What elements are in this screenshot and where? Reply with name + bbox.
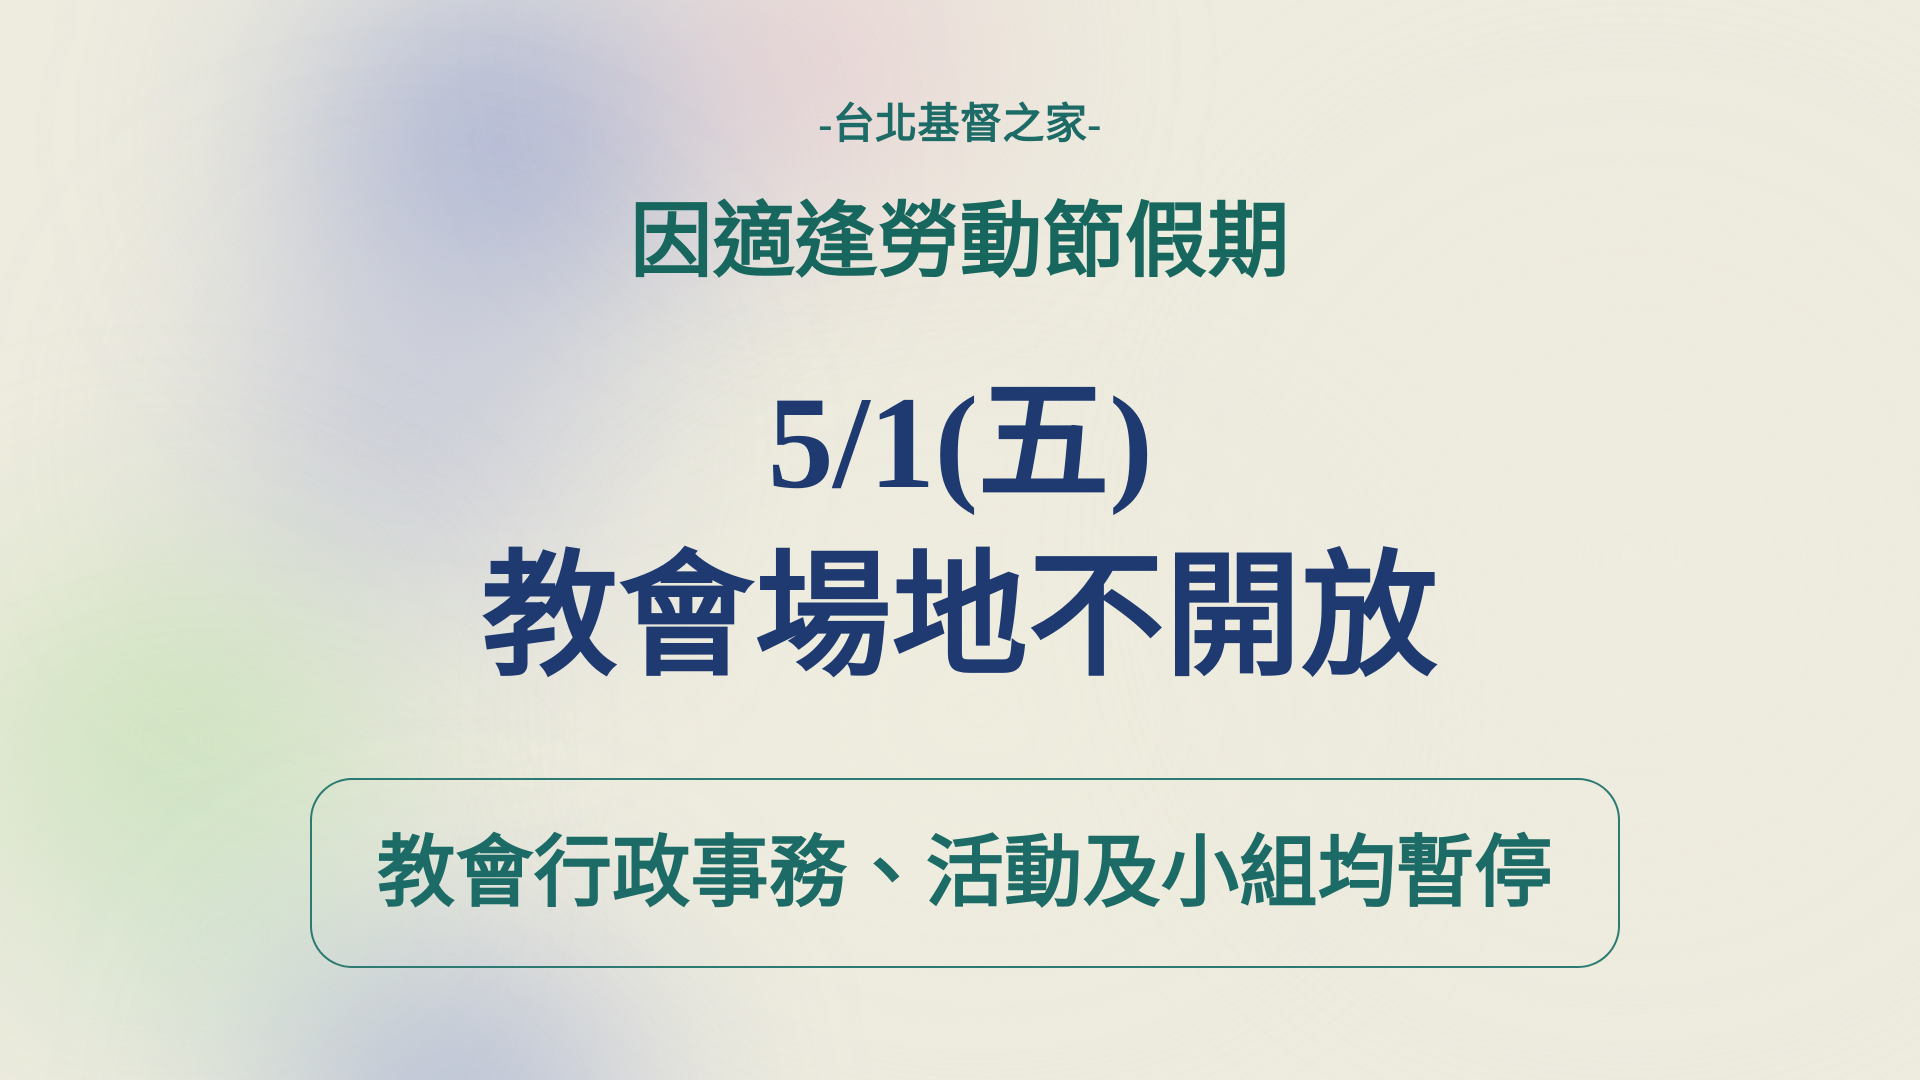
headline-closure-announcement: 教會場地不開放 [0,542,1920,694]
poster-canvas: -台北基督之家- 因適逢勞動節假期 5/1(五) 教會場地不開放 教會行政事務、… [0,0,1920,1080]
reason-line: 因適逢勞動節假期 [0,198,1920,287]
notice-box: 教會行政事務、活動及小組均暫停 [310,778,1620,968]
organization-name: -台北基督之家- [0,104,1920,146]
date-line: 5/1(五) [0,372,1920,515]
poster-content: -台北基督之家- 因適逢勞動節假期 5/1(五) 教會場地不開放 教會行政事務、… [0,0,1920,1080]
notice-box-text: 教會行政事務、活動及小組均暫停 [377,834,1553,912]
